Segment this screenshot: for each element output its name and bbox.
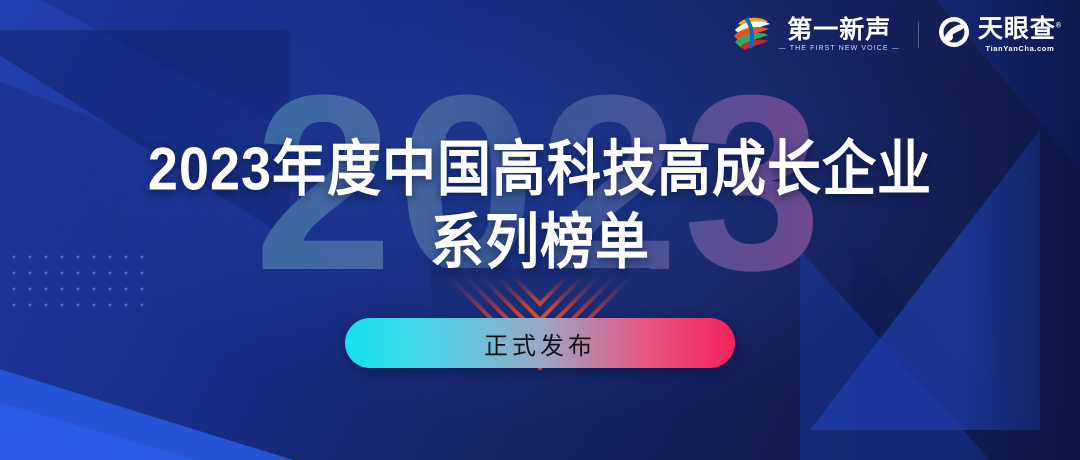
release-status-label: 正式发布 <box>484 326 596 361</box>
logo-tianyancha-en: TianYanCha.com <box>986 44 1055 53</box>
release-status-pill[interactable]: 正式发布 <box>345 318 735 368</box>
trademark-icon: ® <box>1056 23 1062 30</box>
logo-diyixinsheng-cn: 第一新声 <box>787 17 891 43</box>
page-title-line-1: 2023年度中国高科技高成长企业 <box>0 138 1080 202</box>
page-title: 2023年度中国高科技高成长企业 系列榜单 <box>0 138 1080 268</box>
logo-tianyancha-cn-chars: 天眼查 <box>978 15 1056 43</box>
logo-divider <box>918 22 919 48</box>
logo-tianyancha[interactable]: 天眼查® TianYanCha.com <box>937 15 1062 54</box>
logo-diyixinsheng-en: — THE FIRST NEW VOICE — <box>779 45 900 52</box>
logo-tianyancha-text: 天眼查® TianYanCha.com <box>978 16 1062 52</box>
logo-tianyancha-cn: 天眼查® <box>978 16 1062 42</box>
page-title-line-2: 系列榜单 <box>0 211 1080 275</box>
logo-diyixinsheng[interactable]: 第一新声 — THE FIRST NEW VOICE — <box>732 14 900 55</box>
logo-bar: 第一新声 — THE FIRST NEW VOICE — 天眼查® TianYa… <box>732 14 1062 55</box>
promo-banner: 2023 <box>0 0 1080 460</box>
ribbon-swoosh-icon <box>732 14 772 55</box>
logo-diyixinsheng-text: 第一新声 — THE FIRST NEW VOICE — <box>779 17 900 52</box>
camera-eye-icon <box>937 15 971 54</box>
